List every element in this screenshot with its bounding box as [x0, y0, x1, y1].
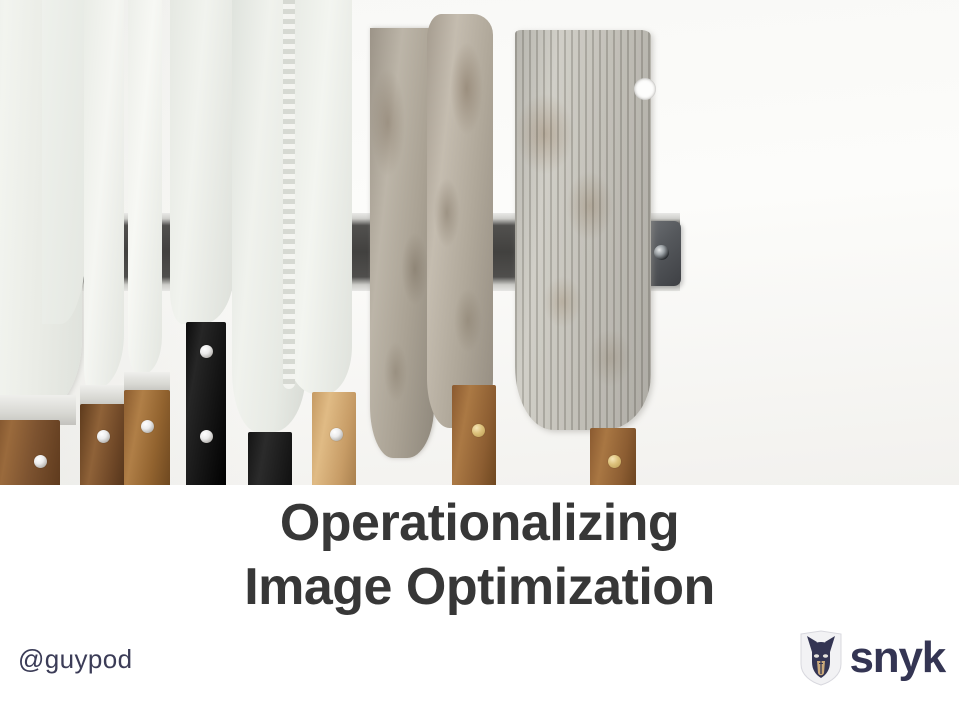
title-band: Operationalizing Image Optimization @guy… — [0, 485, 959, 720]
knife-blade-paring — [84, 0, 124, 389]
cleaver-rivet — [608, 455, 621, 468]
knife-rivet — [200, 430, 213, 443]
hero-photo-knives — [0, 0, 959, 485]
snyk-doberman-logo-icon — [798, 630, 844, 686]
speaker-handle: @guypod — [18, 644, 133, 675]
knife-rivet — [200, 345, 213, 358]
knife-rivet — [472, 424, 485, 437]
knife-handle-paring — [80, 404, 128, 485]
knife-blade-carving-fork — [128, 0, 162, 374]
title-line-1: Operationalizing — [280, 494, 679, 552]
knife-blade-utility — [170, 0, 234, 324]
knife-bolster-carving-fork — [124, 372, 170, 392]
cleaver-hanging-hole — [634, 78, 656, 100]
knife-rivet — [141, 420, 154, 433]
knife-handle-chef — [0, 420, 60, 485]
cleaver-blade — [515, 30, 651, 430]
knife-handle-carving-fork — [124, 390, 170, 485]
slide: Operationalizing Image Optimization @guy… — [0, 0, 959, 720]
knife-rivet — [34, 455, 47, 468]
knife-serration-edge — [283, 0, 295, 389]
snyk-wordmark: snyk — [850, 636, 946, 680]
knife-blade-chef-tip — [42, 0, 88, 324]
knife-blade-rustic-2 — [427, 14, 493, 428]
knife-rivet — [330, 428, 343, 441]
knife-rivet — [97, 430, 110, 443]
knife-handle-santoku — [248, 432, 292, 485]
title-line-2: Image Optimization — [0, 555, 959, 619]
snyk-logo: snyk — [798, 630, 946, 686]
knife-blade-rustic-1 — [370, 28, 434, 458]
page-title: Operationalizing Image Optimization — [0, 491, 959, 619]
knife-blade-bread — [286, 0, 352, 394]
